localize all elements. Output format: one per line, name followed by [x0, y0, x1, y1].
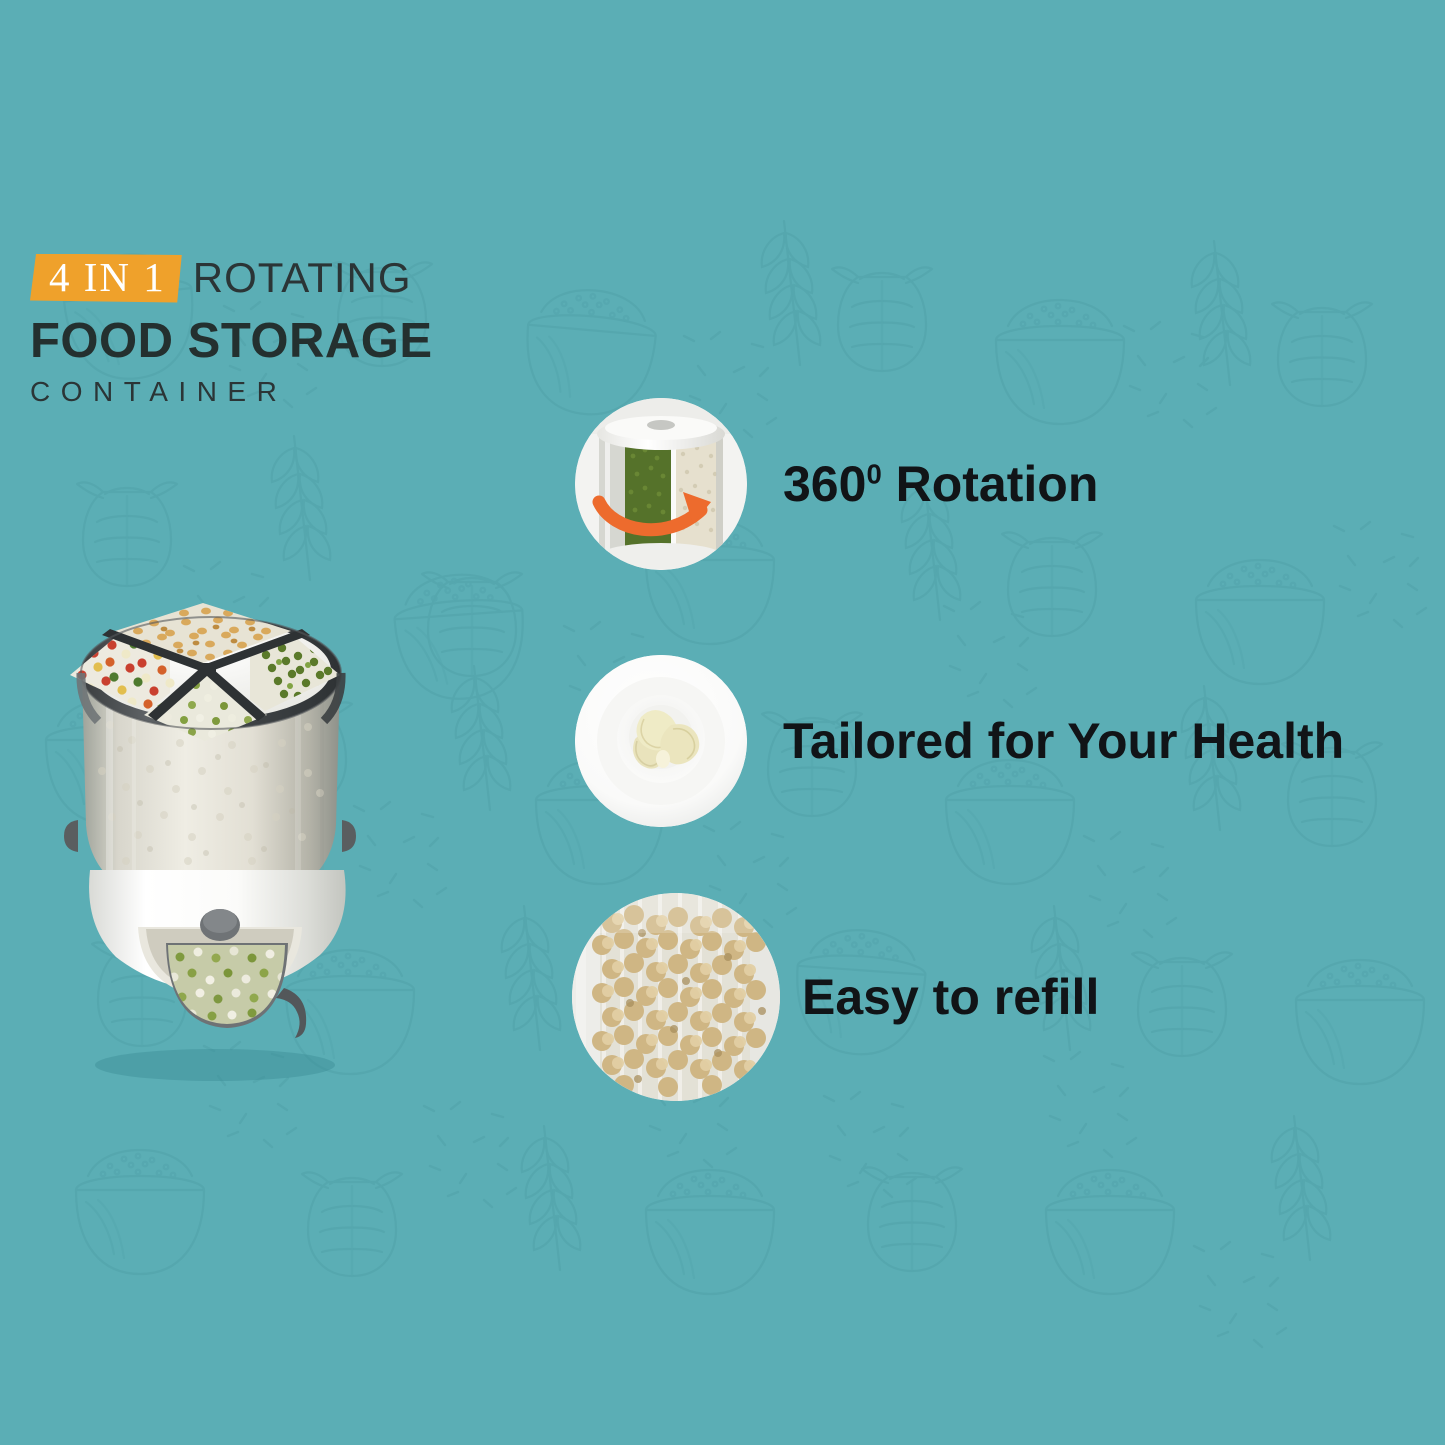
headline-container: CONTAINER: [30, 378, 490, 406]
feature-label-rotation: 3600 Rotation: [783, 459, 1098, 509]
chickpeas-container-photo: [572, 893, 780, 1101]
feature-label-health: Tailored for Your Health: [783, 716, 1344, 766]
feature-row-rotation: 3600 Rotation: [575, 398, 1098, 570]
headline-rotating: ROTATING: [193, 257, 412, 299]
feature-row-health: Tailored for Your Health: [575, 655, 1344, 827]
feature-row-refill: Easy to refill: [572, 893, 1099, 1101]
infographic-canvas: 4 IN 1 ROTATING FOOD STORAGE CONTAINER: [0, 0, 1445, 1445]
garlic-cloves-photo: [575, 655, 747, 827]
headline-line-1: 4 IN 1 ROTATING: [30, 252, 490, 304]
headline-block: 4 IN 1 ROTATING FOOD STORAGE CONTAINER: [30, 252, 490, 406]
container-rotation-photo: [575, 398, 747, 570]
headline-food-storage: FOOD STORAGE: [30, 317, 490, 366]
feature-label-refill: Easy to refill: [802, 972, 1099, 1022]
badge-4-in-1: 4 IN 1: [30, 254, 182, 303]
product-photo: [20, 525, 390, 1085]
